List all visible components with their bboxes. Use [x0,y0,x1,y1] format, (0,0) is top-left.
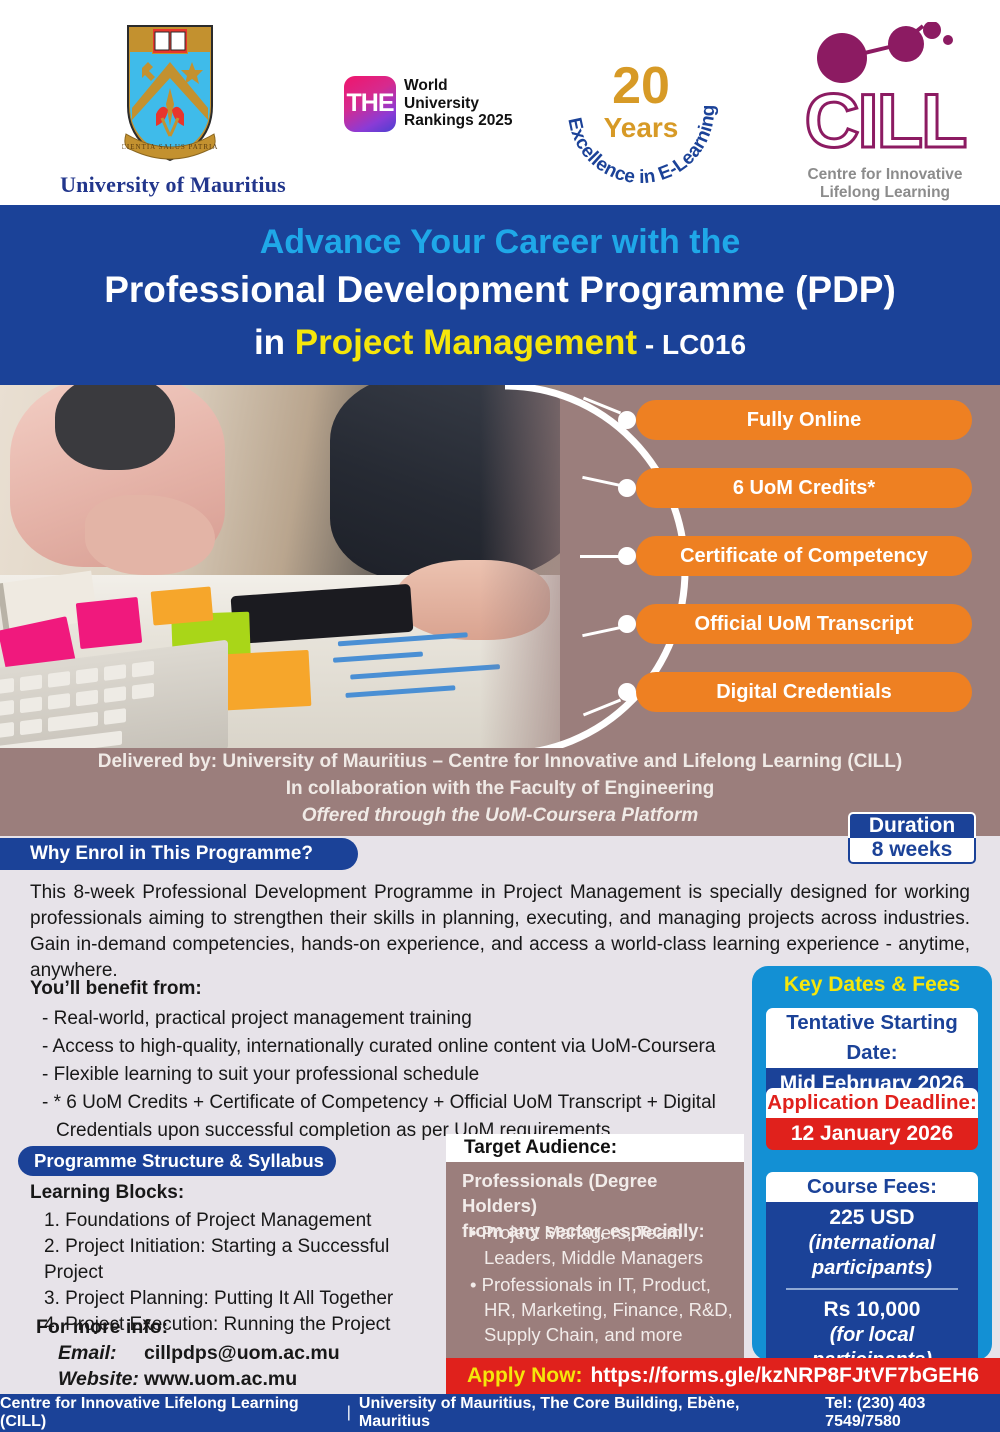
the-line1: World [404,77,513,95]
tab-programme-structure: Programme Structure & Syllabus [18,1146,336,1176]
contact-heading: For more info: [36,1316,168,1339]
footer-separator: | [347,1404,351,1422]
contact-website-row: Website:www.uom.ac.mu [58,1366,340,1392]
university-crest-icon: SCIENTIA SALUS PATRIAE [122,22,218,164]
title-line-2: Professional Development Programme (PDP) [0,269,1000,311]
feature-pill: Digital Credentials [636,672,972,712]
benefit-item: - Real-world, practical project manageme… [42,1005,762,1033]
the-badge-icon: THE [344,76,396,132]
the-line3: Rankings 2025 [404,112,513,130]
contact-rows: Email:cillpdps@uom.ac.mu Website:www.uom… [58,1340,340,1392]
tab-why-enrol-label: Why Enrol in This Programme? [30,843,313,865]
cill-wordmark: CILL [780,84,990,160]
target-audience-heading-label: Target Audience: [464,1137,617,1159]
feature-pill-label: Official UoM Transcript [695,613,914,636]
learning-blocks-heading: Learning Blocks: [30,1182,184,1204]
pill-dot-icon [618,683,636,701]
pill-dot-icon [618,547,636,565]
benefits-heading: You’ll benefit from: [30,978,202,1000]
feature-pill: Certificate of Competency [636,536,972,576]
apply-now-bar[interactable]: Apply Now: https://forms.gle/kzNRP8FJtVF… [446,1358,1000,1394]
tab-why-enrol: Why Enrol in This Programme? [0,838,358,870]
pill-dot-icon [618,615,636,633]
key-dates-panel: Key Dates & Fees Tentative Starting Date… [752,966,992,1360]
target-audience-item: • Project Managers, Team Leaders, Middle… [470,1220,738,1270]
feature-pill-label: 6 UoM Credits* [733,477,875,500]
deadline-card: Application Deadline: 12 January 2026 [766,1088,978,1150]
benefits-list: - Real-world, practical project manageme… [42,1005,762,1145]
course-fees-label: Course Fees: [766,1172,978,1202]
learning-block-item: 1. Foundations of Project Management [44,1208,444,1234]
contact-website-label: Website: [58,1366,144,1392]
contact-email-row: Email:cillpdps@uom.ac.mu [58,1340,340,1366]
title-line3-highlight: Project Management [295,323,637,362]
the-badge-label: THE [344,90,396,116]
benefit-item: - Access to high-quality, internationall… [42,1033,762,1061]
fee-divider [786,1288,958,1290]
benefit-item-line1: - * 6 UoM Credits + Certificate of Compe… [42,1092,716,1113]
cill-tagline-line1: Centre for Innovative [780,166,990,184]
target-audience-heading: Target Audience: [446,1134,744,1162]
course-fees-body: 225 USD (international participants) Rs … [766,1202,978,1381]
footer-telephone: Tel: (230) 403 7549/7580 [825,1395,1000,1431]
deadline-label: Application Deadline: [766,1088,978,1118]
contact-email-label: Email: [58,1340,144,1366]
university-name: University of Mauritius [38,172,308,198]
learning-block-item: 3. Project Planning: Putting It All Toge… [44,1286,444,1312]
poster-root: SCIENTIA SALUS PATRIAE University of Mau… [0,0,1000,1432]
fee-international-note-2: participants) [772,1256,972,1281]
duration-badge: Duration 8 weeks [848,812,976,864]
start-date-card: Tentative Starting Date: Mid February 20… [766,1008,978,1100]
footer-org: Centre for Innovative Lifelong Learning … [0,1395,339,1431]
feature-pill: Fully Online [636,400,972,440]
cill-tagline-line2: Lifelong Learning [780,184,990,202]
pill-connector-line [580,555,620,558]
key-dates-title: Key Dates & Fees [752,973,992,997]
photo-sticky-note [76,597,142,649]
photo-person-left-top [55,385,175,470]
footer-address: University of Mauritius, The Core Buildi… [359,1395,801,1431]
pill-dot-icon [618,479,636,497]
feature-pill-label: Digital Credentials [716,681,892,704]
fee-local-amount: Rs 10,000 [772,1297,972,1323]
photo-sticky-note [151,586,214,625]
course-fees-card: Course Fees: 225 USD (international part… [766,1172,978,1381]
duration-label: Duration [848,812,976,838]
fee-international-note-1: (international [772,1231,972,1256]
target-audience-list: • Project Managers, Team Leaders, Middle… [470,1220,738,1349]
start-date-label: Tentative Starting Date: [766,1008,978,1068]
contact-email-value[interactable]: cillpdps@uom.ac.mu [144,1342,340,1364]
duration-value: 8 weeks [848,838,976,864]
the-line2: University [404,95,513,113]
contact-website-value[interactable]: www.uom.ac.mu [144,1368,297,1390]
title-course-code: - LC016 [637,329,746,360]
title-banner: Advance Your Career with the Professiona… [0,205,1000,385]
delivered-line-2: In collaboration with the Faculty of Eng… [0,778,1000,800]
feature-pill: Official UoM Transcript [636,604,972,644]
deadline-value: 12 January 2026 [766,1118,978,1150]
feature-pill: 6 UoM Credits* [636,468,972,508]
feature-pill-label: Fully Online [747,409,861,432]
the-rankings-logo: THE World University Rankings 2025 [344,76,520,134]
title-line-1: Advance Your Career with the [0,223,1000,262]
pill-dot-icon [618,411,636,429]
page-footer: Centre for Innovative Lifelong Learning … [0,1394,1000,1432]
benefit-item: - Flexible learning to suit your profess… [42,1061,762,1089]
delivered-line-1: Delivered by: University of Mauritius – … [0,751,1000,773]
learning-block-item: 2. Project Initiation: Starting a Succes… [44,1234,444,1286]
the-rankings-text: World University Rankings 2025 [404,77,513,130]
apply-now-label: Apply Now: [467,1364,583,1388]
svg-text:SCIENTIA SALUS PATRIAE: SCIENTIA SALUS PATRIAE [122,143,218,151]
title-line3-prefix: in [254,323,295,362]
anniversary-years: Years [548,114,734,142]
feature-pill-label: Certificate of Competency [680,545,928,568]
apply-now-url[interactable]: https://forms.gle/kzNRP8FJtVF7bGEH6 [590,1364,979,1388]
fee-international-amount: 225 USD [772,1205,972,1231]
logo-header: SCIENTIA SALUS PATRIAE University of Mau… [0,0,1000,205]
anniversary-number: 20 [548,60,734,112]
cill-molecule-icon [780,22,990,84]
feature-pill-list: Fully Online 6 UoM Credits* Certificate … [636,400,972,740]
target-audience-intro-line1: Professionals (Degree Holders) [462,1168,732,1218]
target-audience-item: • Professionals in IT, Product, HR, Mark… [470,1272,738,1347]
anniversary-logo: Excellence in E-Learning 20 Years [548,38,734,188]
tab-programme-structure-label: Programme Structure & Syllabus [34,1150,324,1172]
title-line-3: in Project Management - LC016 [0,323,1000,363]
cill-tagline: Centre for Innovative Lifelong Learning [780,166,990,201]
cill-logo: CILL Centre for Innovative Lifelong Lear… [780,22,990,197]
